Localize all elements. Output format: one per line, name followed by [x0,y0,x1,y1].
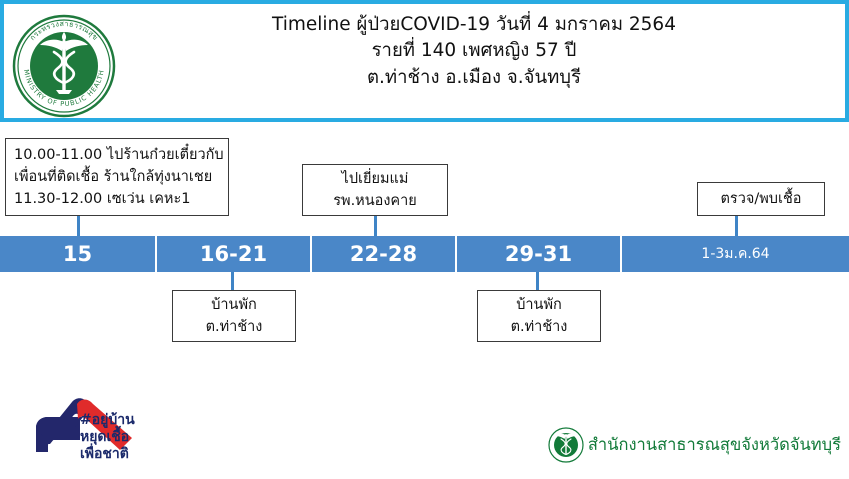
campaign-slogan-line: เพื่อชาติ [80,446,135,463]
event-line: บ้านพัก [211,294,257,316]
event-line: 10.00-11.00 ไปร้านก๋วยเตี๋ยวกับ [14,144,224,166]
event-line: 11.30-12.00 เซเว่น เคหะ1 [14,188,191,210]
event-box-visit-mother: ไปเยี่ยมแม่ รพ.หนองคาย [302,164,448,216]
connector-line-home-1 [231,272,234,290]
stay-home-campaign-logo: #อยู่บ้าน หยุดเชื้อ เพื่อชาติ [28,372,153,472]
event-line: ไปเยี่ยมแม่ [342,168,409,190]
timeline-segment-label: 29-31 [505,242,572,266]
connector-line-noodle-shop [77,216,80,236]
patient-subtitle: รายที่ 140 เพศหญิง 57 ปี [124,38,824,64]
timeline-segment-22-28[interactable]: 22-28 [310,236,455,272]
event-line: บ้านพัก [516,294,562,316]
campaign-slogan: #อยู่บ้าน หยุดเชื้อ เพื่อชาติ [80,412,135,463]
event-box-test-positive: ตรวจ/พบเชื้อ [697,182,825,216]
event-box-home-1: บ้านพัก ต.ท่าช้าง [172,290,296,342]
event-line: ตรวจ/พบเชื้อ [721,188,802,210]
provincial-health-office-seal [548,427,584,463]
connector-line-visit-mother [374,216,377,236]
campaign-slogan-line: หยุดเชื้อ [80,429,135,446]
event-line: รพ.หนองคาย [333,190,417,212]
event-box-noodle-shop: 10.00-11.00 ไปร้านก๋วยเตี๋ยวกับ เพื่อนที… [5,138,229,216]
timeline-segment-label: 1-3ม.ค.64 [701,243,769,265]
header-title-group: Timeline ผู้ป่วยCOVID-19 วันที่ 4 มกราคม… [124,12,824,91]
patient-location: ต.ท่าช้าง อ.เมือง จ.จันทบุรี [124,65,824,91]
timeline-segment-29-31[interactable]: 29-31 [455,236,620,272]
event-line: เพื่อนที่ติดเชื้อ ร้านใกล้ทุ่งนาเชย [14,166,212,188]
ministry-of-public-health-seal: กระทรวงสาธารณสุข MINISTRY OF PUBLIC HEAL… [12,14,116,118]
timeline-segment-15[interactable]: 15 [0,236,155,272]
timeline-segment-label: 16-21 [200,242,267,266]
event-line: ต.ท่าช้าง [511,316,568,338]
office-name-label: สำนักงานสาธารณสุขจังหวัดจันทบุรี [588,432,841,458]
timeline-bar: 15 16-21 22-28 29-31 1-3ม.ค.64 [0,236,849,272]
timeline-segment-label: 22-28 [350,242,417,266]
header-banner: กระทรวงสาธารณสุข MINISTRY OF PUBLIC HEAL… [0,0,849,122]
event-line: ต.ท่าช้าง [206,316,263,338]
timeline-segment-1-3-jan[interactable]: 1-3ม.ค.64 [620,236,849,272]
connector-line-home-2 [536,272,539,290]
footer-office: สำนักงานสาธารณสุขจังหวัดจันทบุรี [548,427,841,463]
timeline-segment-label: 15 [63,242,92,266]
timeline-segment-16-21[interactable]: 16-21 [155,236,310,272]
campaign-slogan-line: #อยู่บ้าน [80,412,135,429]
page-title: Timeline ผู้ป่วยCOVID-19 วันที่ 4 มกราคม… [124,12,824,38]
connector-line-test-positive [735,216,738,236]
event-box-home-2: บ้านพัก ต.ท่าช้าง [477,290,601,342]
